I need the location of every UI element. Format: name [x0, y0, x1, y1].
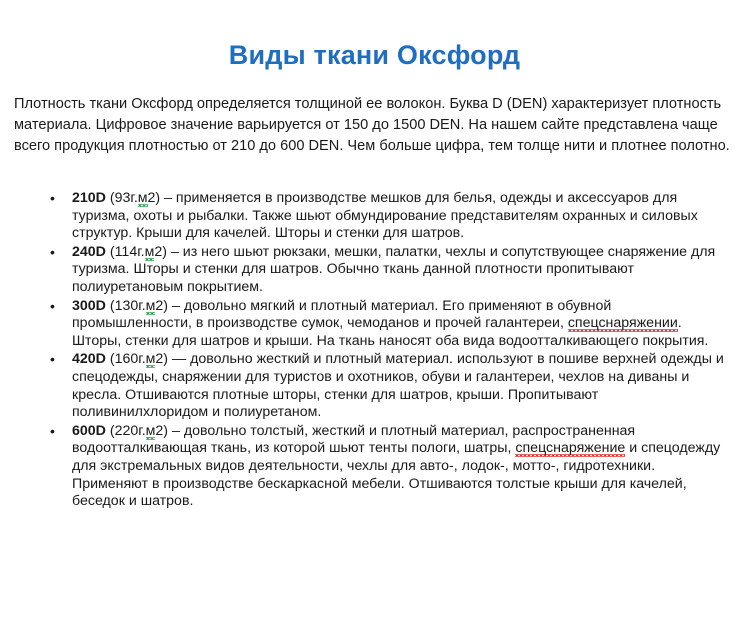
- intro-paragraph: Плотность ткани Оксфорд определяется тол…: [14, 94, 738, 157]
- density-description: – применяется в производстве мешков для …: [72, 190, 698, 241]
- spellcheck-error-word: спецснаряжении: [568, 315, 678, 332]
- list-item: • 300D (130г.м2) – довольно мягкий и пло…: [0, 298, 749, 351]
- density-weight-close: 2): [148, 190, 165, 206]
- density-weight-close: 2): [155, 351, 172, 367]
- density-bullet-list: • 210D (93г.м2) – применяется в производ…: [0, 190, 749, 512]
- density-weight-unit: м: [145, 244, 155, 261]
- density-weight-open: (93г.: [110, 190, 138, 206]
- bullet-point-icon: •: [50, 298, 60, 316]
- density-weight-close: 2): [155, 423, 172, 439]
- bullet-point-icon: •: [50, 423, 60, 441]
- document-page: Виды ткани Оксфорд Плотность ткани Оксфо…: [0, 0, 749, 637]
- density-weight-unit: м: [146, 351, 156, 368]
- density-weight-open: (220г.: [110, 423, 146, 439]
- density-label: 420D: [72, 351, 106, 367]
- bullet-point-icon: •: [50, 190, 60, 208]
- list-item: • 240D (114г.м2) – из него шьют рюкзаки,…: [0, 244, 749, 297]
- density-label: 600D: [72, 423, 106, 439]
- density-weight-close: 2): [155, 298, 172, 314]
- density-label: 210D: [72, 190, 106, 206]
- density-weight-open: (160г.: [110, 351, 146, 367]
- list-item: • 210D (93г.м2) – применяется в производ…: [0, 190, 749, 243]
- list-item: • 420D (160г.м2) — довольно жесткий и пл…: [0, 351, 749, 421]
- density-weight-unit: м: [146, 423, 156, 440]
- page-title: Виды ткани Оксфорд: [0, 40, 749, 71]
- density-weight-open: (130г.: [110, 298, 146, 314]
- bullet-point-icon: •: [50, 244, 60, 262]
- density-label: 240D: [72, 244, 106, 260]
- bullet-point-icon: •: [50, 351, 60, 369]
- spellcheck-error-word: спецснаряжение: [515, 440, 625, 457]
- density-weight-close: 2): [154, 244, 171, 260]
- list-item: • 600D (220г.м2) – довольно толстый, жес…: [0, 423, 749, 511]
- density-weight-unit: м: [146, 298, 156, 315]
- density-weight-open: (114г.: [110, 244, 145, 260]
- density-label: 300D: [72, 298, 106, 314]
- density-weight-unit: м: [138, 190, 148, 207]
